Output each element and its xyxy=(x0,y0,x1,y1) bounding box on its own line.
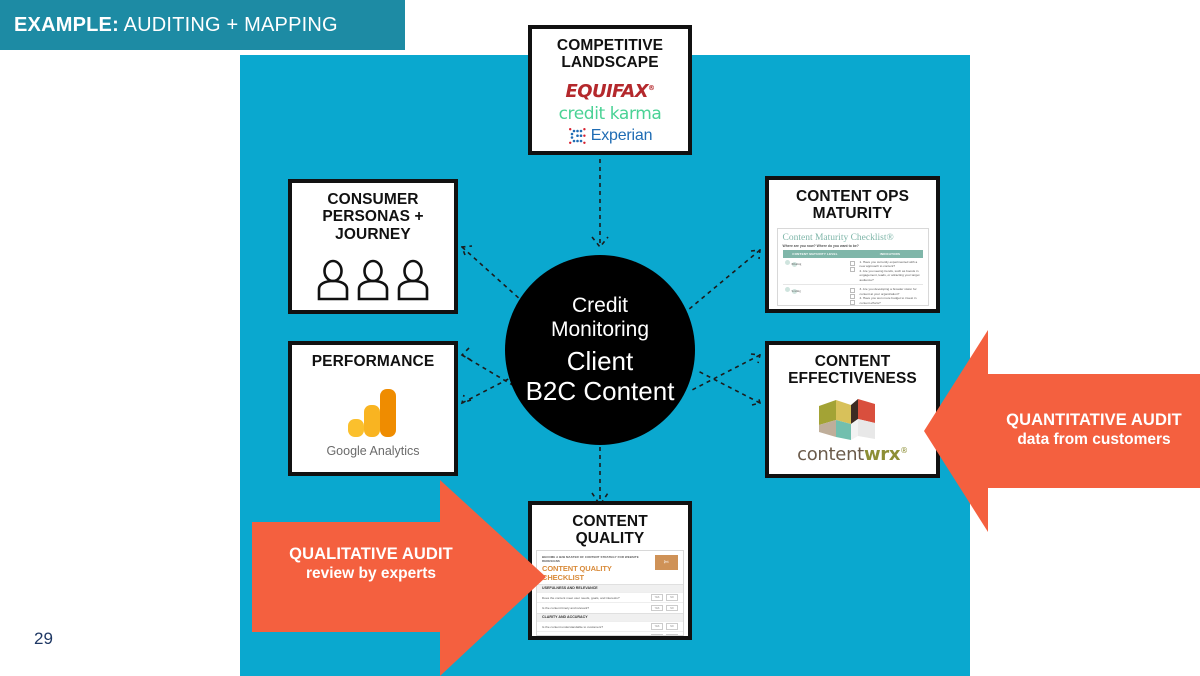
checkbox-icon[interactable] xyxy=(850,267,855,272)
experian-logo: Experian xyxy=(568,127,653,145)
google-analytics-logo: Google Analytics xyxy=(326,385,419,458)
yes-no-group[interactable]: YES NO xyxy=(651,605,678,612)
table-header-row: CONTENT MATURITY LEVEL INDICATORS xyxy=(783,250,923,258)
doc-header: BECOME A B2B MASTER OF CONTENT STRATEGY … xyxy=(537,551,683,584)
yes-option[interactable]: YES xyxy=(651,634,663,636)
center-node: Credit Monitoring Client B2C Content xyxy=(505,255,695,445)
checkbox-icon[interactable] xyxy=(850,294,855,299)
card-competitive-landscape[interactable]: COMPETITIVE LANDSCAPE EQUIFAX® credit ka… xyxy=(528,25,692,155)
stage-bullet-icon xyxy=(785,287,790,292)
no-option[interactable]: NO xyxy=(666,623,678,630)
no-option[interactable]: NO xyxy=(666,634,678,636)
doc-title: Content Maturity Checklist® xyxy=(783,233,923,243)
indicator-cell: 1. Have you currently experimented with … xyxy=(858,258,923,285)
experian-wordmark: Experian xyxy=(591,127,653,145)
doc-title: CONTENT QUALITY CHECKLIST xyxy=(542,564,655,582)
card-body: BECOME A B2B MASTER OF CONTENT STRATEGY … xyxy=(532,548,688,636)
card-title: CONTENT EFFECTIVENESS xyxy=(788,353,917,388)
checkbox-icon[interactable] xyxy=(850,288,855,293)
equifax-logo: EQUIFAX® xyxy=(566,81,655,102)
center-title: Client B2C Content xyxy=(526,347,675,405)
google-analytics-label: Google Analytics xyxy=(326,444,419,458)
qualitative-audit-label: QUALITATIVE AUDIT review by experts xyxy=(268,545,474,583)
card-content-quality[interactable]: CONTENT QUALITY BECOME A B2B MASTER OF C… xyxy=(528,501,692,640)
yes-option[interactable]: YES xyxy=(651,605,663,612)
yes-option[interactable]: YES xyxy=(651,594,663,601)
contentwrx-wordmark: contentwrx® xyxy=(797,444,908,465)
page-number: 29 xyxy=(34,629,53,649)
center-subtitle: Credit Monitoring xyxy=(551,294,649,341)
content-maturity-checklist-thumbnail: Content Maturity Checklist® Where are yo… xyxy=(777,228,929,306)
page-title-strong: EXAMPLE: xyxy=(14,14,119,36)
contentwrx-mark-icon xyxy=(817,396,889,442)
card-body: EQUIFAX® credit karma Expe xyxy=(532,72,688,151)
card-content-effectiveness[interactable]: CONTENT EFFECTIVENESS contentwrx® xyxy=(765,341,940,478)
card-title: PERFORMANCE xyxy=(312,353,435,370)
yes-no-group[interactable]: YES NO xyxy=(651,634,678,636)
checklist-row: Is the content organized logically and c… xyxy=(537,631,683,636)
stage-cell: Piloting xyxy=(783,258,848,285)
quantitative-audit-label: QUANTITATIVE AUDIT data from customers xyxy=(996,411,1192,449)
section-heading: CLARITY AND ACCURACY xyxy=(537,613,683,621)
table-row: Scaling 3. Are you developing a broader … xyxy=(783,285,923,306)
checklist-row: Is the content understandable to custome… xyxy=(537,621,683,632)
experian-dot-mark-icon xyxy=(568,127,588,145)
card-body: Content Maturity Checklist® Where are yo… xyxy=(769,223,936,309)
stage-bullet-icon xyxy=(785,260,790,265)
checkbox-cell[interactable] xyxy=(848,285,858,306)
indicator-cell: 3. Are you developing a broader vision f… xyxy=(858,285,923,306)
card-body: Google Analytics xyxy=(292,370,454,472)
yes-no-group[interactable]: YES NO xyxy=(651,623,678,630)
page-title: EXAMPLE: AUDITING + MAPPING xyxy=(0,14,338,37)
col-header-check xyxy=(848,250,858,258)
person-icon xyxy=(395,259,431,301)
card-content-ops-maturity[interactable]: CONTENT OPS MATURITY Content Maturity Ch… xyxy=(765,176,940,313)
col-header-stage: CONTENT MATURITY LEVEL xyxy=(783,250,848,258)
person-icon xyxy=(355,259,391,301)
content-quality-checklist-thumbnail: BECOME A B2B MASTER OF CONTENT STRATEGY … xyxy=(536,550,684,636)
page-title-light: AUDITING + MAPPING xyxy=(124,14,338,36)
card-performance[interactable]: PERFORMANCE Google Analytics xyxy=(288,341,458,476)
checklist-row: Does the content meet user needs, goals,… xyxy=(537,592,683,603)
header-banner: EXAMPLE: AUDITING + MAPPING xyxy=(0,0,405,50)
yes-no-group[interactable]: YES NO xyxy=(651,594,678,601)
person-icon xyxy=(315,259,351,301)
yes-option[interactable]: YES xyxy=(651,623,663,630)
table-row: Piloting 1. Have you currently experimen… xyxy=(783,258,923,285)
checkbox-cell[interactable] xyxy=(848,258,858,285)
card-consumer-personas[interactable]: CONSUMER PERSONAS + JOURNEY xyxy=(288,179,458,314)
persona-icon-group xyxy=(315,259,431,301)
checklist-row: Is the content timely and relevant? YES … xyxy=(537,602,683,613)
no-option[interactable]: NO xyxy=(666,594,678,601)
google-analytics-icon xyxy=(344,385,402,439)
checkbox-icon[interactable] xyxy=(850,261,855,266)
col-header-indicators: INDICATORS xyxy=(858,250,923,258)
doc-kicker: BECOME A B2B MASTER OF CONTENT STRATEGY … xyxy=(542,555,655,563)
scissors-icon: ✄ xyxy=(655,555,678,570)
card-title: CONTENT QUALITY xyxy=(572,513,648,548)
checkbox-icon[interactable] xyxy=(850,300,855,305)
card-title: COMPETITIVE LANDSCAPE xyxy=(557,37,663,72)
card-title: CONSUMER PERSONAS + JOURNEY xyxy=(322,191,423,243)
card-body xyxy=(292,243,454,310)
doc-subtitle: Where are you now? Where do you want to … xyxy=(783,244,923,248)
maturity-table: CONTENT MATURITY LEVEL INDICATORS Piloti… xyxy=(783,250,923,306)
card-body: contentwrx® xyxy=(769,388,936,474)
section-heading: USEFULNESS AND RELEVANCE xyxy=(537,584,683,592)
no-option[interactable]: NO xyxy=(666,605,678,612)
card-title: CONTENT OPS MATURITY xyxy=(796,188,909,223)
stage-cell: Scaling xyxy=(783,285,848,306)
credit-karma-logo: credit karma xyxy=(559,104,662,124)
